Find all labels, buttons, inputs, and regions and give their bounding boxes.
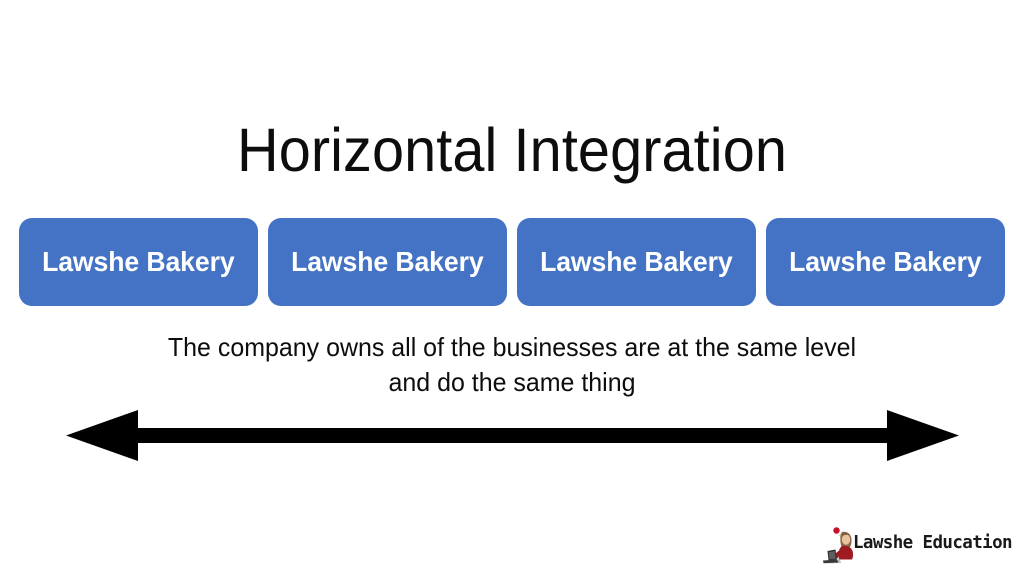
business-box-label: Lawshe Bakery	[42, 246, 234, 278]
business-box-label: Lawshe Bakery	[291, 246, 483, 278]
caption-text: The company owns all of the businesses a…	[0, 330, 1024, 399]
business-boxes-row: Lawshe Bakery Lawshe Bakery Lawshe Baker…	[19, 218, 1005, 306]
caption-line-1: The company owns all of the businesses a…	[20, 330, 1003, 365]
double-headed-horizontal-arrow	[66, 408, 959, 462]
business-box[interactable]: Lawshe Bakery	[19, 218, 258, 306]
business-box-label: Lawshe Bakery	[789, 246, 981, 278]
business-box[interactable]: Lawshe Bakery	[766, 218, 1005, 306]
business-box[interactable]: Lawshe Bakery	[517, 218, 756, 306]
logo: Lawshe Education	[820, 524, 1010, 566]
page-title: Horizontal Integration	[28, 118, 996, 182]
logo-text: Lawshe Education	[853, 533, 1012, 553]
caption-line-2: and do the same thing	[20, 365, 1003, 400]
slide-canvas: Horizontal Integration Lawshe Bakery Law…	[0, 0, 1024, 576]
business-box-label: Lawshe Bakery	[540, 246, 732, 278]
business-box[interactable]: Lawshe Bakery	[268, 218, 507, 306]
